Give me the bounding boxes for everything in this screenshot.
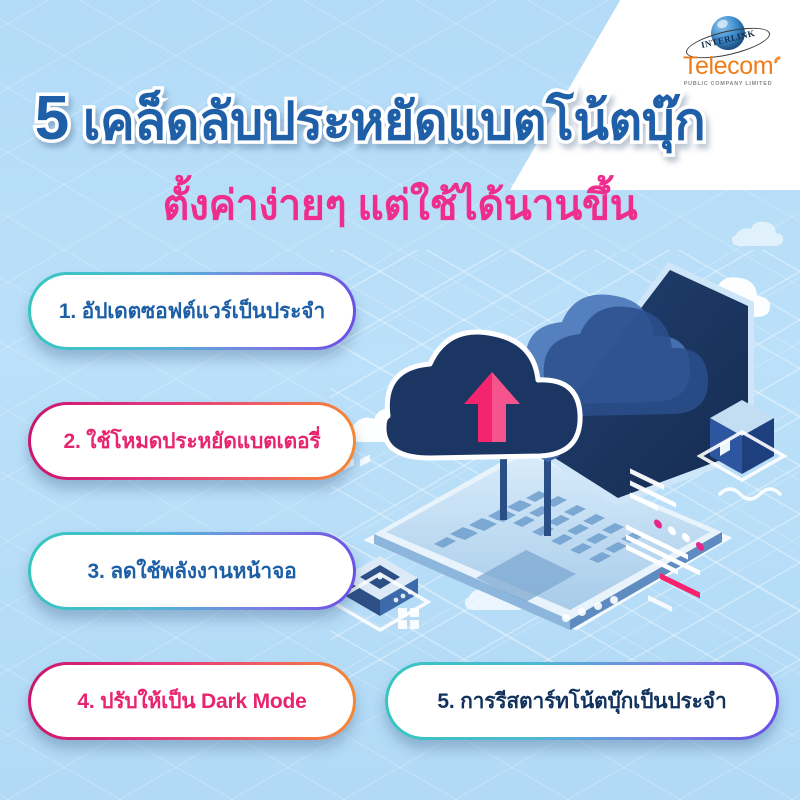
infographic-canvas: INTERLINK Telecom PUBLIC COMPANY LIMITED… — [0, 0, 800, 800]
tip-item-1[interactable]: 1. อัปเดตซอฟต์แวร์เป็นประจำ — [28, 272, 356, 350]
tip-item-5[interactable]: 5. การรีสตาร์ทโน้ตบุ๊กเป็นประจำ — [385, 662, 779, 740]
tip-item-3[interactable]: 3. ลดใช้พลังงานหน้าจอ — [28, 532, 356, 610]
tip-item-3-inner: 3. ลดใช้พลังงานหน้าจอ — [31, 535, 353, 607]
brand-logo: INTERLINK Telecom PUBLIC COMPANY LIMITED — [672, 14, 784, 87]
tip-item-2[interactable]: 2. ใช้โหมดประหยัดแบตเตอรี่ — [28, 402, 356, 480]
title-text: เคล็ดลับประหยัดแบตโน้ตบุ๊ก — [83, 93, 705, 151]
tip-item-3-label: 3. ลดใช้พลังงานหน้าจอ — [87, 555, 296, 588]
tip-item-1-inner: 1. อัปเดตซอฟต์แวร์เป็นประจำ — [31, 275, 353, 347]
page-title: 5 เคล็ดลับประหยัดแบตโน้ตบุ๊ก — [0, 86, 740, 151]
logo-telecom-text-wrap: Telecom — [683, 54, 773, 79]
wifi-signal-icon — [772, 51, 786, 65]
tip-item-5-inner: 5. การรีสตาร์ทโน้ตบุ๊กเป็นประจำ — [388, 665, 776, 737]
tip-item-1-label: 1. อัปเดตซอฟต์แวร์เป็นประจำ — [59, 295, 325, 328]
tip-item-2-label: 2. ใช้โหมดประหยัดแบตเตอรี่ — [64, 425, 321, 458]
tip-item-2-inner: 2. ใช้โหมดประหยัดแบตเตอรี่ — [31, 405, 353, 477]
isometric-laptop-cloud-svg — [330, 248, 800, 668]
tip-item-4-inner: 4. ปรับให้เป็น Dark Mode — [31, 665, 353, 737]
hero-illustration — [330, 248, 800, 668]
tip-item-4-label: 4. ปรับให้เป็น Dark Mode — [77, 685, 306, 718]
logo-globe-group: INTERLINK — [672, 14, 784, 54]
logo-telecom-text: Telecom — [683, 52, 773, 80]
tip-item-5-label: 5. การรีสตาร์ทโน้ตบุ๊กเป็นประจำ — [437, 685, 726, 718]
tip-item-4[interactable]: 4. ปรับให้เป็น Dark Mode — [28, 662, 356, 740]
page-subtitle: ตั้งค่าง่ายๆ แต่ใช้ได้นานขึ้น — [0, 173, 800, 238]
title-number: 5 — [35, 84, 69, 153]
